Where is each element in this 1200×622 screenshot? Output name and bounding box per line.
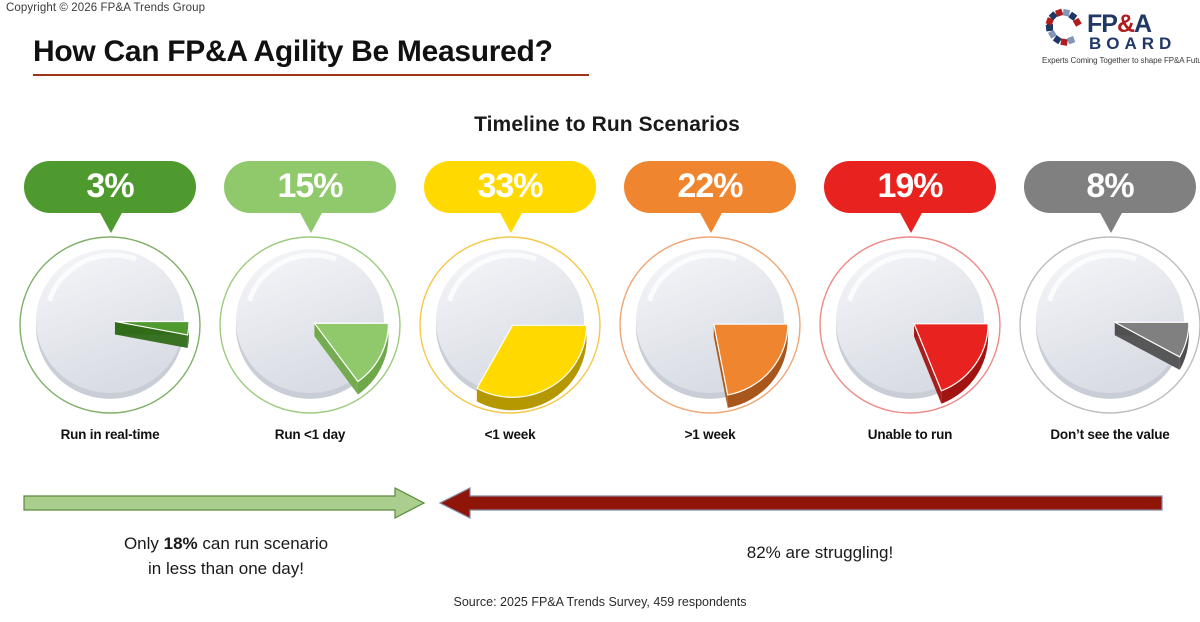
- pie-category-label: Run in real-time: [10, 427, 210, 442]
- badge-pointer-icon: [299, 211, 323, 233]
- fpa-board-logo: FP&A BOARD Experts Coming Together to sh…: [1040, 8, 1196, 70]
- percent-badge-label: 33%: [477, 169, 542, 203]
- percent-badge-label: 15%: [277, 169, 342, 203]
- percent-badge[interactable]: 33%: [424, 161, 596, 213]
- pie-column-5: 19%Unable to run: [810, 155, 1010, 465]
- percent-badge-wrap: 15%: [210, 155, 410, 233]
- arrow-row: [0, 484, 1200, 522]
- pie-category-label: Unable to run: [810, 427, 1010, 442]
- pie-category-label: Run <1 day: [210, 427, 410, 442]
- percent-badge-wrap: 3%: [10, 155, 210, 233]
- pie-chart[interactable]: [610, 233, 810, 423]
- logo-tagline: Experts Coming Together to shape FP&A Fu…: [1042, 56, 1200, 65]
- pie-wrap: [1010, 233, 1200, 423]
- percent-badge[interactable]: 22%: [624, 161, 796, 213]
- pie-wrap: [610, 233, 810, 423]
- percent-badge[interactable]: 19%: [824, 161, 996, 213]
- note-right: 82% are struggling!: [620, 543, 1020, 563]
- logo-board-word: BOARD: [1089, 35, 1176, 52]
- percent-badge-label: 19%: [877, 169, 942, 203]
- percent-badge-wrap: 8%: [1010, 155, 1200, 233]
- logo-circle-mark: [1040, 8, 1086, 52]
- pie-column-1: 3%Run in real-time: [10, 155, 210, 465]
- chart-title: Timeline to Run Scenarios: [0, 113, 1200, 137]
- badge-pointer-icon: [499, 211, 523, 233]
- note-left: Only 18% can run scenario in less than o…: [36, 532, 416, 581]
- pie-chart[interactable]: [810, 233, 1010, 423]
- note-left-bold: 18%: [164, 534, 198, 553]
- pie-chart-row: 3%Run in real-time15%Run <1 day33%<1 wee…: [0, 155, 1200, 465]
- badge-pointer-icon: [1099, 211, 1123, 233]
- note-left-post: can run scenario: [198, 534, 328, 553]
- pie-wrap: [210, 233, 410, 423]
- pie-chart[interactable]: [1010, 233, 1200, 423]
- pie-column-2: 15%Run <1 day: [210, 155, 410, 465]
- percent-badge-label: 22%: [677, 169, 742, 203]
- percent-badge-label: 3%: [86, 169, 133, 203]
- badge-pointer-icon: [899, 211, 923, 233]
- percent-badge-wrap: 33%: [410, 155, 610, 233]
- pie-category-label: >1 week: [610, 427, 810, 442]
- percent-badge-label: 8%: [1086, 169, 1133, 203]
- source-line: Source: 2025 FP&A Trends Survey, 459 res…: [0, 595, 1200, 609]
- pie-base-top: [1036, 249, 1184, 393]
- dark-red-left-arrow: [440, 488, 1162, 518]
- percent-badge-wrap: 22%: [610, 155, 810, 233]
- pie-chart[interactable]: [210, 233, 410, 423]
- page-title: How Can FP&A Agility Be Measured?: [33, 35, 553, 69]
- note-left-line2: in less than one day!: [148, 559, 304, 578]
- pie-wrap: [810, 233, 1010, 423]
- chart-title-text: Timeline to Run Scenarios: [474, 113, 740, 137]
- pie-column-3: 33%<1 week: [410, 155, 610, 465]
- percent-badge[interactable]: 8%: [1024, 161, 1196, 213]
- pie-chart[interactable]: [10, 233, 210, 423]
- slide-root: Copyright © 2026 FP&A Trends Group How C…: [0, 0, 1200, 622]
- pie-column-4: 22%>1 week: [610, 155, 810, 465]
- pie-wrap: [10, 233, 210, 423]
- title-underline: [33, 74, 589, 76]
- percent-badge-wrap: 19%: [810, 155, 1010, 233]
- note-left-pre: Only: [124, 534, 164, 553]
- pie-chart[interactable]: [410, 233, 610, 423]
- green-right-arrow: [24, 488, 424, 518]
- pie-wrap: [410, 233, 610, 423]
- percent-badge[interactable]: 3%: [24, 161, 196, 213]
- pie-category-label: Don’t see the value: [1010, 427, 1200, 442]
- badge-pointer-icon: [699, 211, 723, 233]
- badge-pointer-icon: [99, 211, 123, 233]
- pie-category-label: <1 week: [410, 427, 610, 442]
- percent-badge[interactable]: 15%: [224, 161, 396, 213]
- pie-column-6: 8%Don’t see the value: [1010, 155, 1200, 465]
- copyright-notice: Copyright © 2026 FP&A Trends Group: [6, 2, 205, 14]
